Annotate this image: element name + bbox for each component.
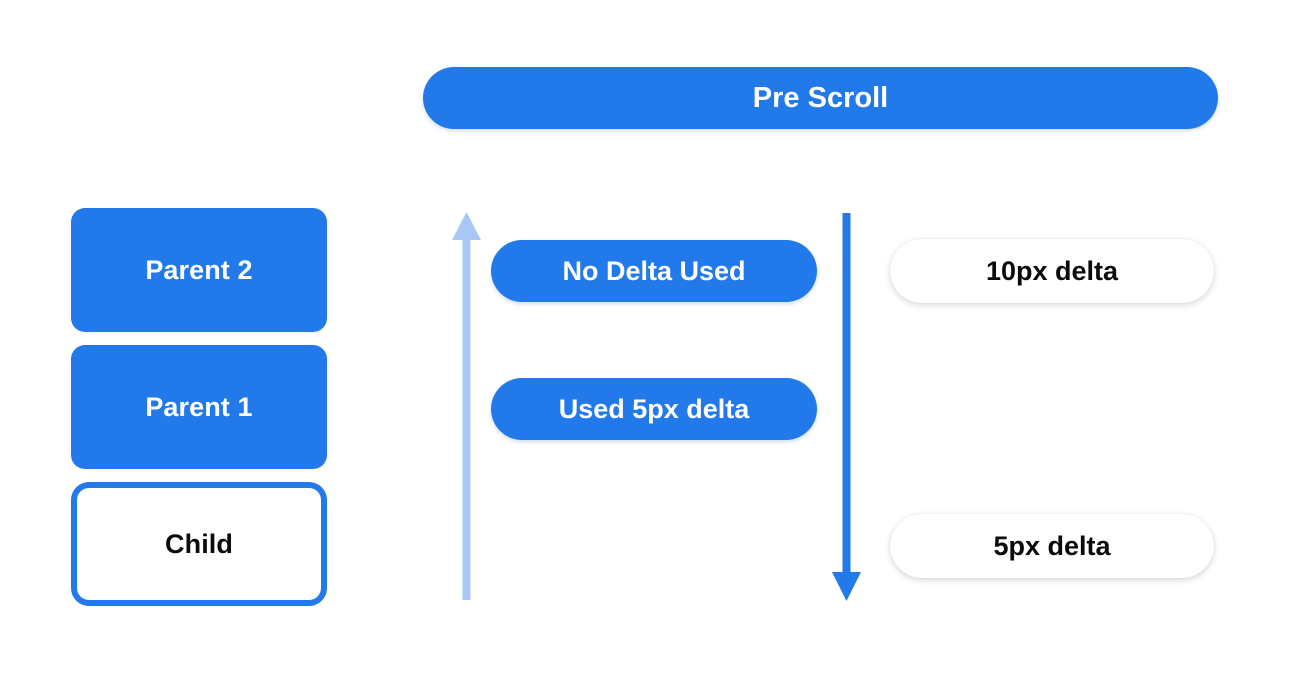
center-pill-no-delta-used: No Delta Used <box>491 240 817 302</box>
right-pill-5px-delta: 5px delta <box>890 514 1214 578</box>
stack-box-parent-2: Parent 2 <box>71 208 327 332</box>
center-pill-used-5px-delta-label: Used 5px delta <box>559 394 750 425</box>
banner-label: Pre Scroll <box>753 82 888 115</box>
stack-box-child: Child <box>71 482 327 606</box>
upward-arrow <box>452 212 481 600</box>
stack-box-parent-2-label: Parent 2 <box>145 255 252 286</box>
stack-box-parent-1-label: Parent 1 <box>145 392 252 423</box>
stack-box-parent-1: Parent 1 <box>71 345 327 469</box>
stack-box-child-label: Child <box>165 529 233 560</box>
diagram-canvas: Pre Scroll Parent 2 Parent 1 Child No De… <box>0 0 1312 680</box>
banner-pre-scroll: Pre Scroll <box>423 67 1218 129</box>
right-pill-5px-delta-label: 5px delta <box>993 531 1110 562</box>
center-pill-no-delta-used-label: No Delta Used <box>562 256 745 287</box>
center-pill-used-5px-delta: Used 5px delta <box>491 378 817 440</box>
right-pill-10px-delta-label: 10px delta <box>986 256 1118 287</box>
right-pill-10px-delta: 10px delta <box>890 239 1214 303</box>
downward-arrow <box>832 213 861 601</box>
